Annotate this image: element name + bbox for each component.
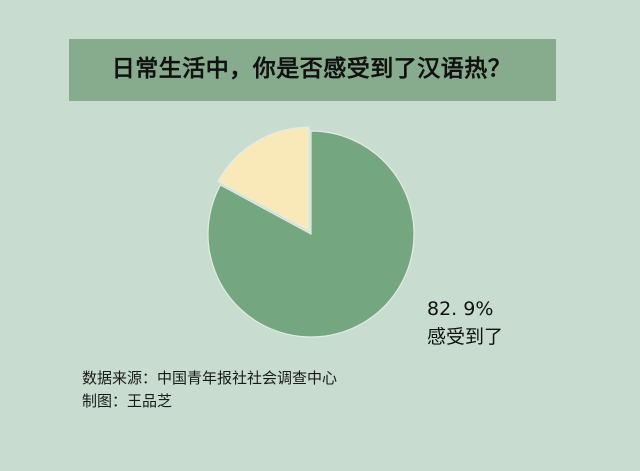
pie-chart-svg: [0, 100, 640, 360]
page-title: 日常生活中，你是否感受到了汉语热？: [112, 58, 512, 81]
title-banner-fill: 日常生活中，你是否感受到了汉语热？: [69, 39, 554, 99]
data-label-name: 感受到了: [427, 324, 503, 352]
data-label-percent: 82. 9%: [427, 296, 503, 324]
pie-chart: 82. 9% 感受到了: [0, 100, 640, 360]
footer-credit: 制图：王品芝: [82, 390, 337, 413]
title-banner: 日常生活中，你是否感受到了汉语热？: [69, 39, 556, 101]
footer: 数据来源：中国青年报社社会调查中心 制图：王品芝: [82, 367, 337, 414]
data-label-agree: 82. 9% 感受到了: [427, 296, 503, 351]
chart-canvas: 日常生活中，你是否感受到了汉语热？ 82. 9% 感受到了 数据来源：中国青年报…: [0, 0, 640, 471]
footer-source: 数据来源：中国青年报社社会调查中心: [82, 367, 337, 390]
